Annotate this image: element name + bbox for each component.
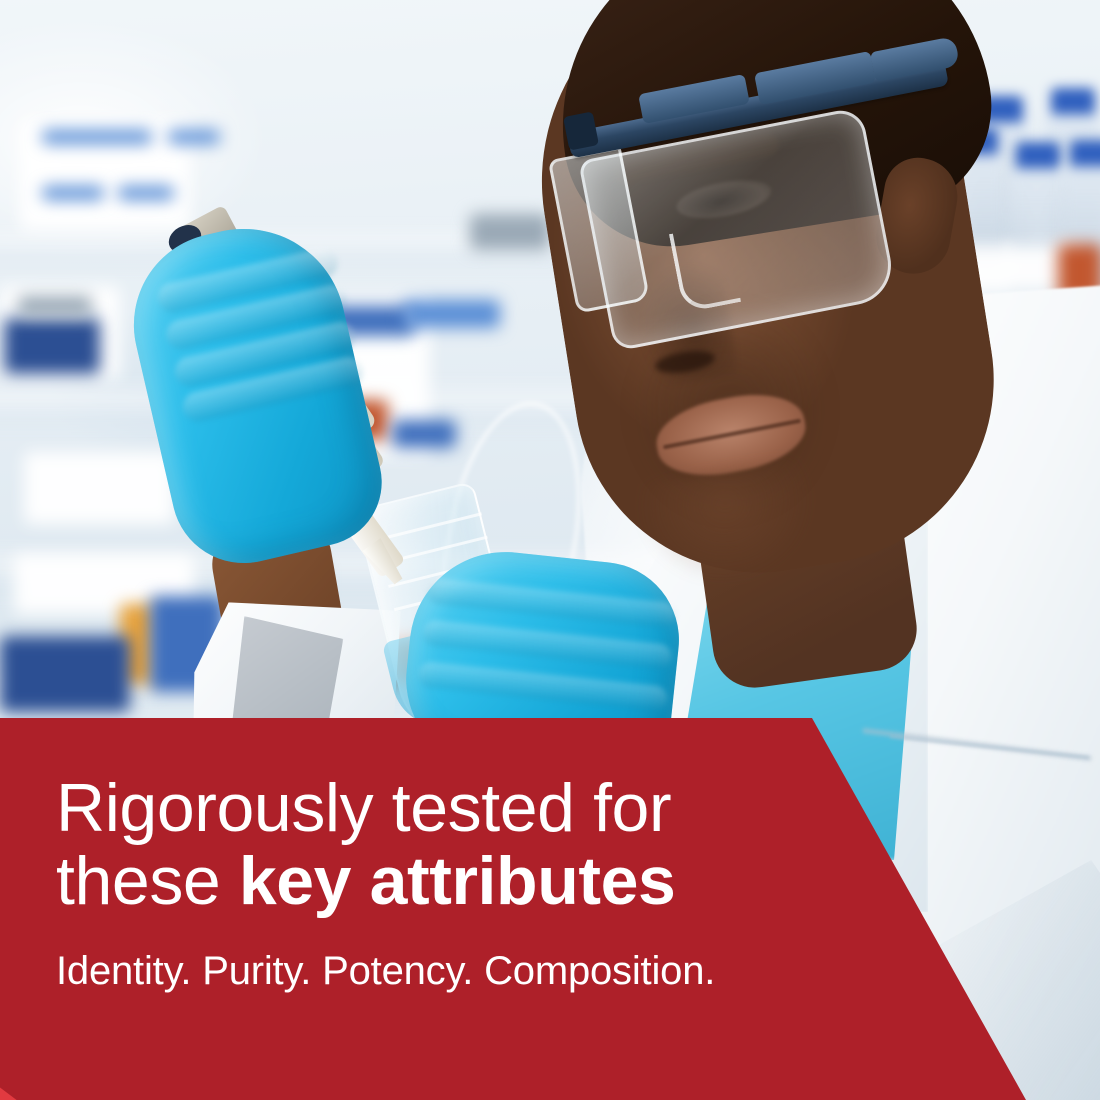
- background-box: [24, 452, 174, 524]
- headline-line-2-bold: key attributes: [239, 843, 676, 919]
- headline-line-1: Rigorously tested for: [56, 770, 671, 846]
- background-label: [404, 300, 500, 328]
- promo-banner-image: Rigorously tested for these key attribut…: [0, 0, 1100, 1100]
- background-label: [168, 130, 220, 144]
- subtitle: Identity. Purity. Potency. Composition.: [56, 949, 876, 993]
- background-box: [4, 318, 100, 374]
- background-box: [470, 214, 550, 250]
- headline-line-2-light: these: [56, 843, 239, 919]
- banner-text-block: Rigorously tested for these key attribut…: [56, 772, 876, 993]
- background-label: [118, 186, 174, 200]
- background-box: [0, 636, 130, 712]
- background-box: [18, 296, 92, 316]
- background-label: [42, 186, 104, 200]
- page-title: Rigorously tested for these key attribut…: [56, 772, 876, 919]
- headline-line-2: these key attributes: [56, 845, 876, 918]
- safety-glasses-hinge: [563, 111, 599, 150]
- background-label: [392, 420, 456, 448]
- background-label: [42, 130, 152, 144]
